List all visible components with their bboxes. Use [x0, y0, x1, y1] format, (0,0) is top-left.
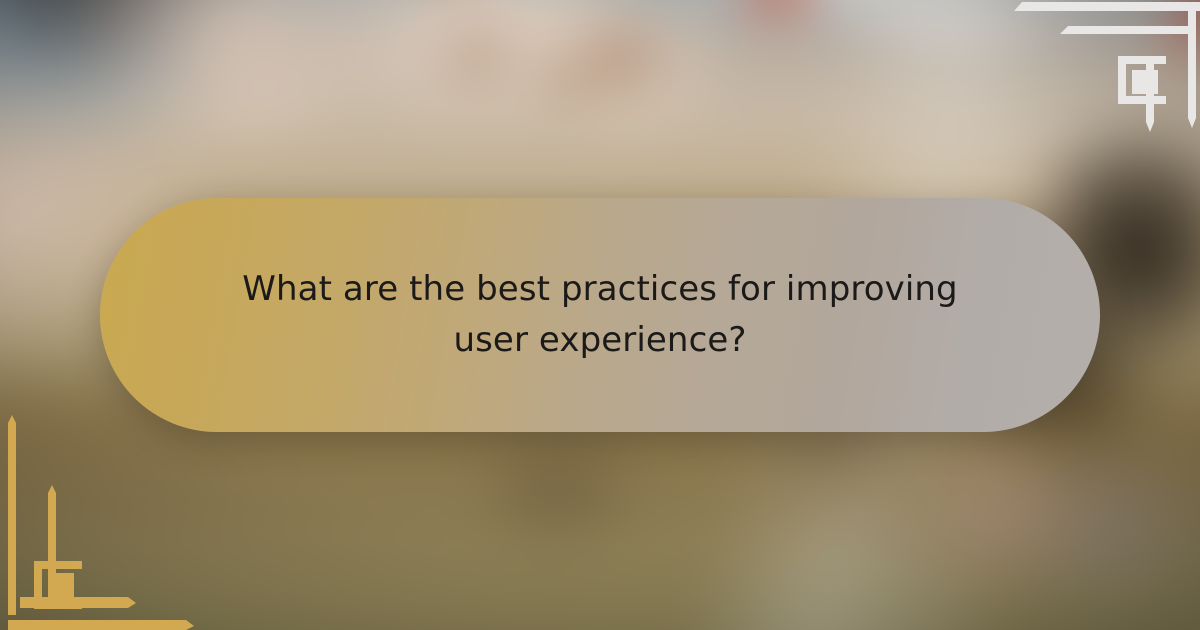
- corner-ornament-top-right-icon: [1000, 0, 1200, 140]
- question-card: What are the best practices for improvin…: [100, 198, 1100, 432]
- corner-ornament-bottom-left-icon: [0, 415, 200, 630]
- question-text: What are the best practices for improvin…: [240, 264, 960, 366]
- slide-canvas: What are the best practices for improvin…: [0, 0, 1200, 630]
